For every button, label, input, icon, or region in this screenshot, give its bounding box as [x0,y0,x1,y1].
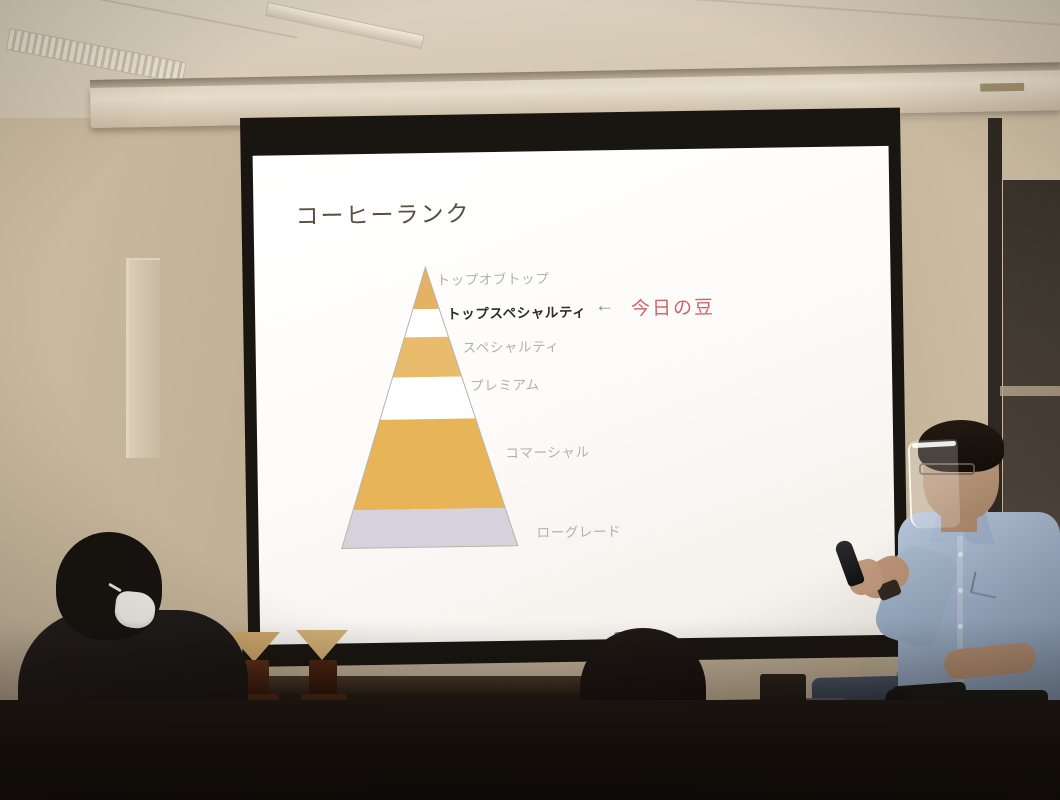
pyramid-label-low-grade: ローグレード [536,520,621,541]
pyramid-label-premium: プレミアム [470,373,540,394]
annotation-todays-bean: 今日の豆 [631,293,715,321]
dripper-cone-icon [296,630,348,660]
shirt-button-icon [958,588,963,593]
ceiling-seam [3,0,298,39]
pyramid-label-commercial: コマーシャル [505,441,590,462]
pyramid-label-top-specialty: トップスペシャルティ [447,301,587,323]
shirt-button-icon [958,624,963,629]
projector-screen: コーヒーランク [240,108,908,663]
shirt-button-icon [958,552,963,557]
door-frame [1000,386,1060,396]
foreground-shadow [0,700,1060,800]
slide-content: コーヒーランク [253,146,897,646]
pyramid-chart: トップオブトップ トップスペシャルティ スペシャルティ プレミアム コマーシャル… [294,258,859,607]
ceiling-vent-icon [6,28,187,84]
presenter-shirt-placket [957,536,963,706]
presentation-room-photo: コーヒーランク [0,0,1060,800]
pyramid-label-specialty: スペシャルティ [462,335,559,357]
glass-carafe [309,660,337,696]
band-fill-5 [297,416,598,511]
annotation-arrow-icon: ← [595,295,614,317]
roller-label-sticker [980,83,1024,92]
band-fill-4 [296,374,597,421]
ceiling-vent-icon [265,2,424,49]
face-shield-icon [907,439,960,529]
wall-alcove [126,258,160,458]
ceiling-seam [431,0,1060,26]
pyramid-label-top-of-top: トップオブトップ [436,267,549,289]
slide-title: コーヒーランク [295,194,471,231]
